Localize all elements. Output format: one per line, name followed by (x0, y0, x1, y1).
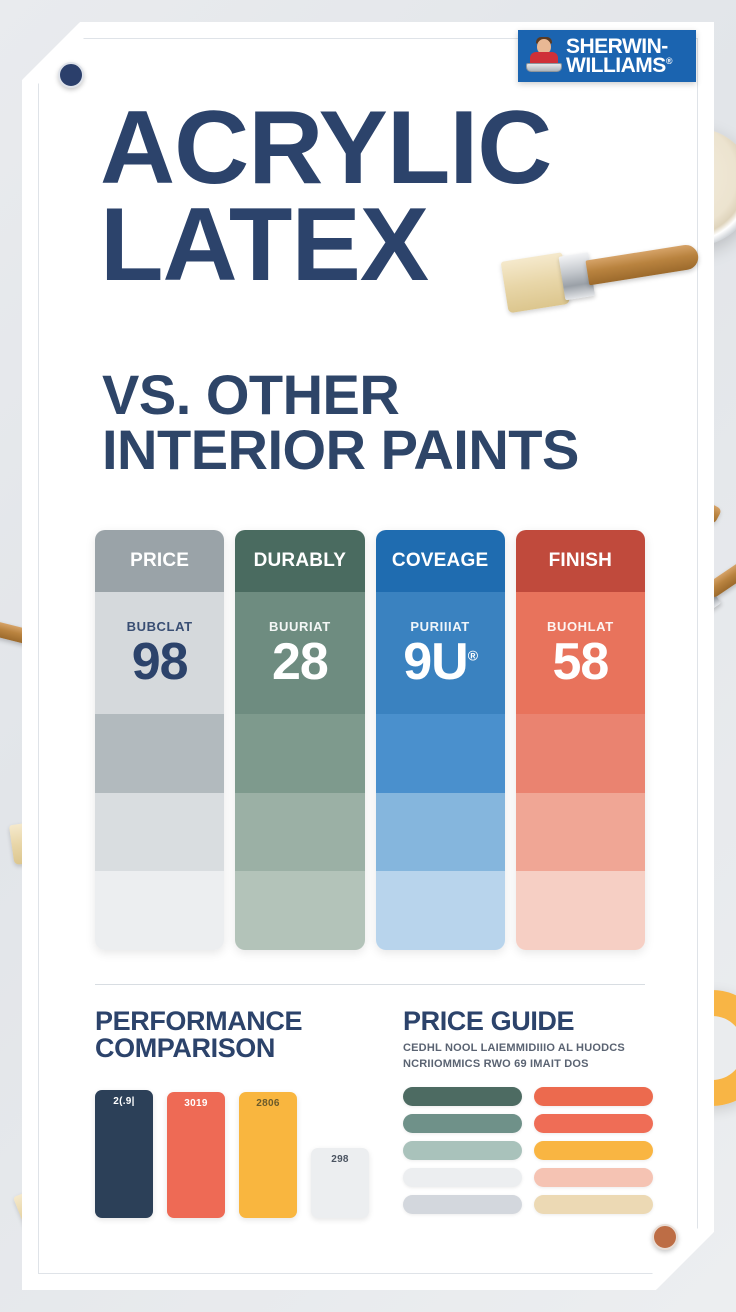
lower-sections: PERFORMANCE COMPARISON 2(.9|30192806298 … (95, 1008, 653, 1218)
comparison-column-band (516, 714, 645, 793)
comparison-column-value: 9U® (403, 636, 477, 688)
color-swatch (403, 1168, 522, 1187)
headline-line1: ACRYLIC (100, 100, 660, 197)
subhead-line1: VS. OTHER (102, 368, 662, 423)
brand-logo-line2: WILLIAMS® (566, 56, 672, 75)
color-swatch (534, 1141, 653, 1160)
performance-title-line1: PERFORMANCE (95, 1008, 385, 1035)
bar-wrapper: 2(.9| (95, 1078, 153, 1218)
comparison-column-header: DURABLY (235, 530, 364, 592)
price-guide-title: PRICE GUIDE (403, 1008, 653, 1035)
comparison-column: FINISHBUOHLAT58 (516, 530, 645, 950)
comparison-column-value: 98 (132, 636, 188, 688)
comparison-column-sublabel: BUURIAT (269, 619, 331, 634)
comparison-column-sublabel: BUOHLAT (547, 619, 614, 634)
comparison-column-band (95, 871, 224, 950)
comparison-column-value: 28 (272, 636, 328, 688)
comparison-column-value: 58 (552, 636, 608, 688)
brand-logo: SHERWIN- WILLIAMS® (518, 30, 696, 82)
color-swatch (534, 1114, 653, 1133)
comparison-column: PRICEBUBCLAT98 (95, 530, 224, 950)
chart-bar-label: 2(.9| (95, 1096, 153, 1107)
comparison-column-stat: BUURIAT28 (235, 592, 364, 714)
comparison-column-band (235, 871, 364, 950)
chart-bar-label: 298 (311, 1154, 369, 1165)
headline-line2: LATEX (100, 197, 660, 294)
comparison-column-band (95, 793, 224, 872)
bar-wrapper: 3019 (167, 1078, 225, 1218)
chart-bar: 2806 (239, 1092, 297, 1218)
price-guide-body-line1: CEDHL NOOL LAIEMMIDIIIO AL HUODCS (403, 1041, 653, 1057)
chart-bar-label: 3019 (167, 1098, 225, 1109)
price-guide-body-line2: NCRIIOMMICS RWO 69 IMAIT DOS (403, 1057, 653, 1073)
price-guide-section: PRICE GUIDE CEDHL NOOL LAIEMMIDIIIO AL H… (403, 1008, 653, 1218)
comparison-column-band (376, 793, 505, 872)
comparison-column-band (376, 714, 505, 793)
comparison-column-sublabel: PURIIIAT (410, 619, 469, 634)
painter-icon (524, 36, 564, 76)
color-swatch (403, 1195, 522, 1214)
comparison-column-band (235, 714, 364, 793)
poster-card: SHERWIN- WILLIAMS® ACRYLIC LATEX VS. OTH… (22, 22, 714, 1290)
chart-bar-label: 2806 (239, 1098, 297, 1109)
comparison-column-sublabel: BUBCLAT (127, 619, 193, 634)
comparison-column-header: PRICE (95, 530, 224, 592)
price-guide-body: CEDHL NOOL LAIEMMIDIIIO AL HUODCS NCRIIO… (403, 1041, 653, 1073)
price-guide-swatches (403, 1087, 653, 1214)
comparison-column-band (516, 793, 645, 872)
color-swatch (534, 1087, 653, 1106)
performance-bar-chart: 2(.9|30192806298 (95, 1078, 385, 1218)
chart-bar: 2(.9| (95, 1090, 153, 1218)
corner-dot-top-left (58, 62, 84, 88)
swatch-column (534, 1087, 653, 1214)
page-subtitle: VS. OTHER INTERIOR PAINTS (102, 368, 662, 478)
section-divider (95, 984, 645, 985)
comparison-column-stat: BUOHLAT58 (516, 592, 645, 714)
comparison-column-stat: PURIIIAT9U® (376, 592, 505, 714)
color-swatch (403, 1114, 522, 1133)
chart-bar: 298 (311, 1148, 369, 1218)
color-swatch (403, 1141, 522, 1160)
comparison-column-band (376, 871, 505, 950)
color-swatch (534, 1168, 653, 1187)
corner-dot-bottom-right (652, 1224, 678, 1250)
comparison-column-band (516, 871, 645, 950)
comparison-column-header: FINISH (516, 530, 645, 592)
comparison-column: COVEAGEPURIIIAT9U® (376, 530, 505, 950)
comparison-columns: PRICEBUBCLAT98DURABLYBUURIAT28COVEAGEPUR… (95, 530, 645, 950)
bar-wrapper: 298 (311, 1078, 369, 1218)
comparison-column: DURABLYBUURIAT28 (235, 530, 364, 950)
brand-logo-text: SHERWIN- WILLIAMS® (566, 37, 672, 76)
page-title: ACRYLIC LATEX (100, 100, 660, 293)
color-swatch (403, 1087, 522, 1106)
color-swatch (534, 1195, 653, 1214)
comparison-column-band (95, 714, 224, 793)
comparison-column-band (235, 793, 364, 872)
bar-wrapper: 2806 (239, 1078, 297, 1218)
performance-section: PERFORMANCE COMPARISON 2(.9|30192806298 (95, 1008, 385, 1218)
performance-title-line2: COMPARISON (95, 1035, 385, 1062)
comparison-column-header: COVEAGE (376, 530, 505, 592)
performance-title: PERFORMANCE COMPARISON (95, 1008, 385, 1062)
subhead-line2: INTERIOR PAINTS (102, 423, 662, 478)
swatch-column (403, 1087, 522, 1214)
comparison-column-stat: BUBCLAT98 (95, 592, 224, 714)
chart-bar: 3019 (167, 1092, 225, 1218)
